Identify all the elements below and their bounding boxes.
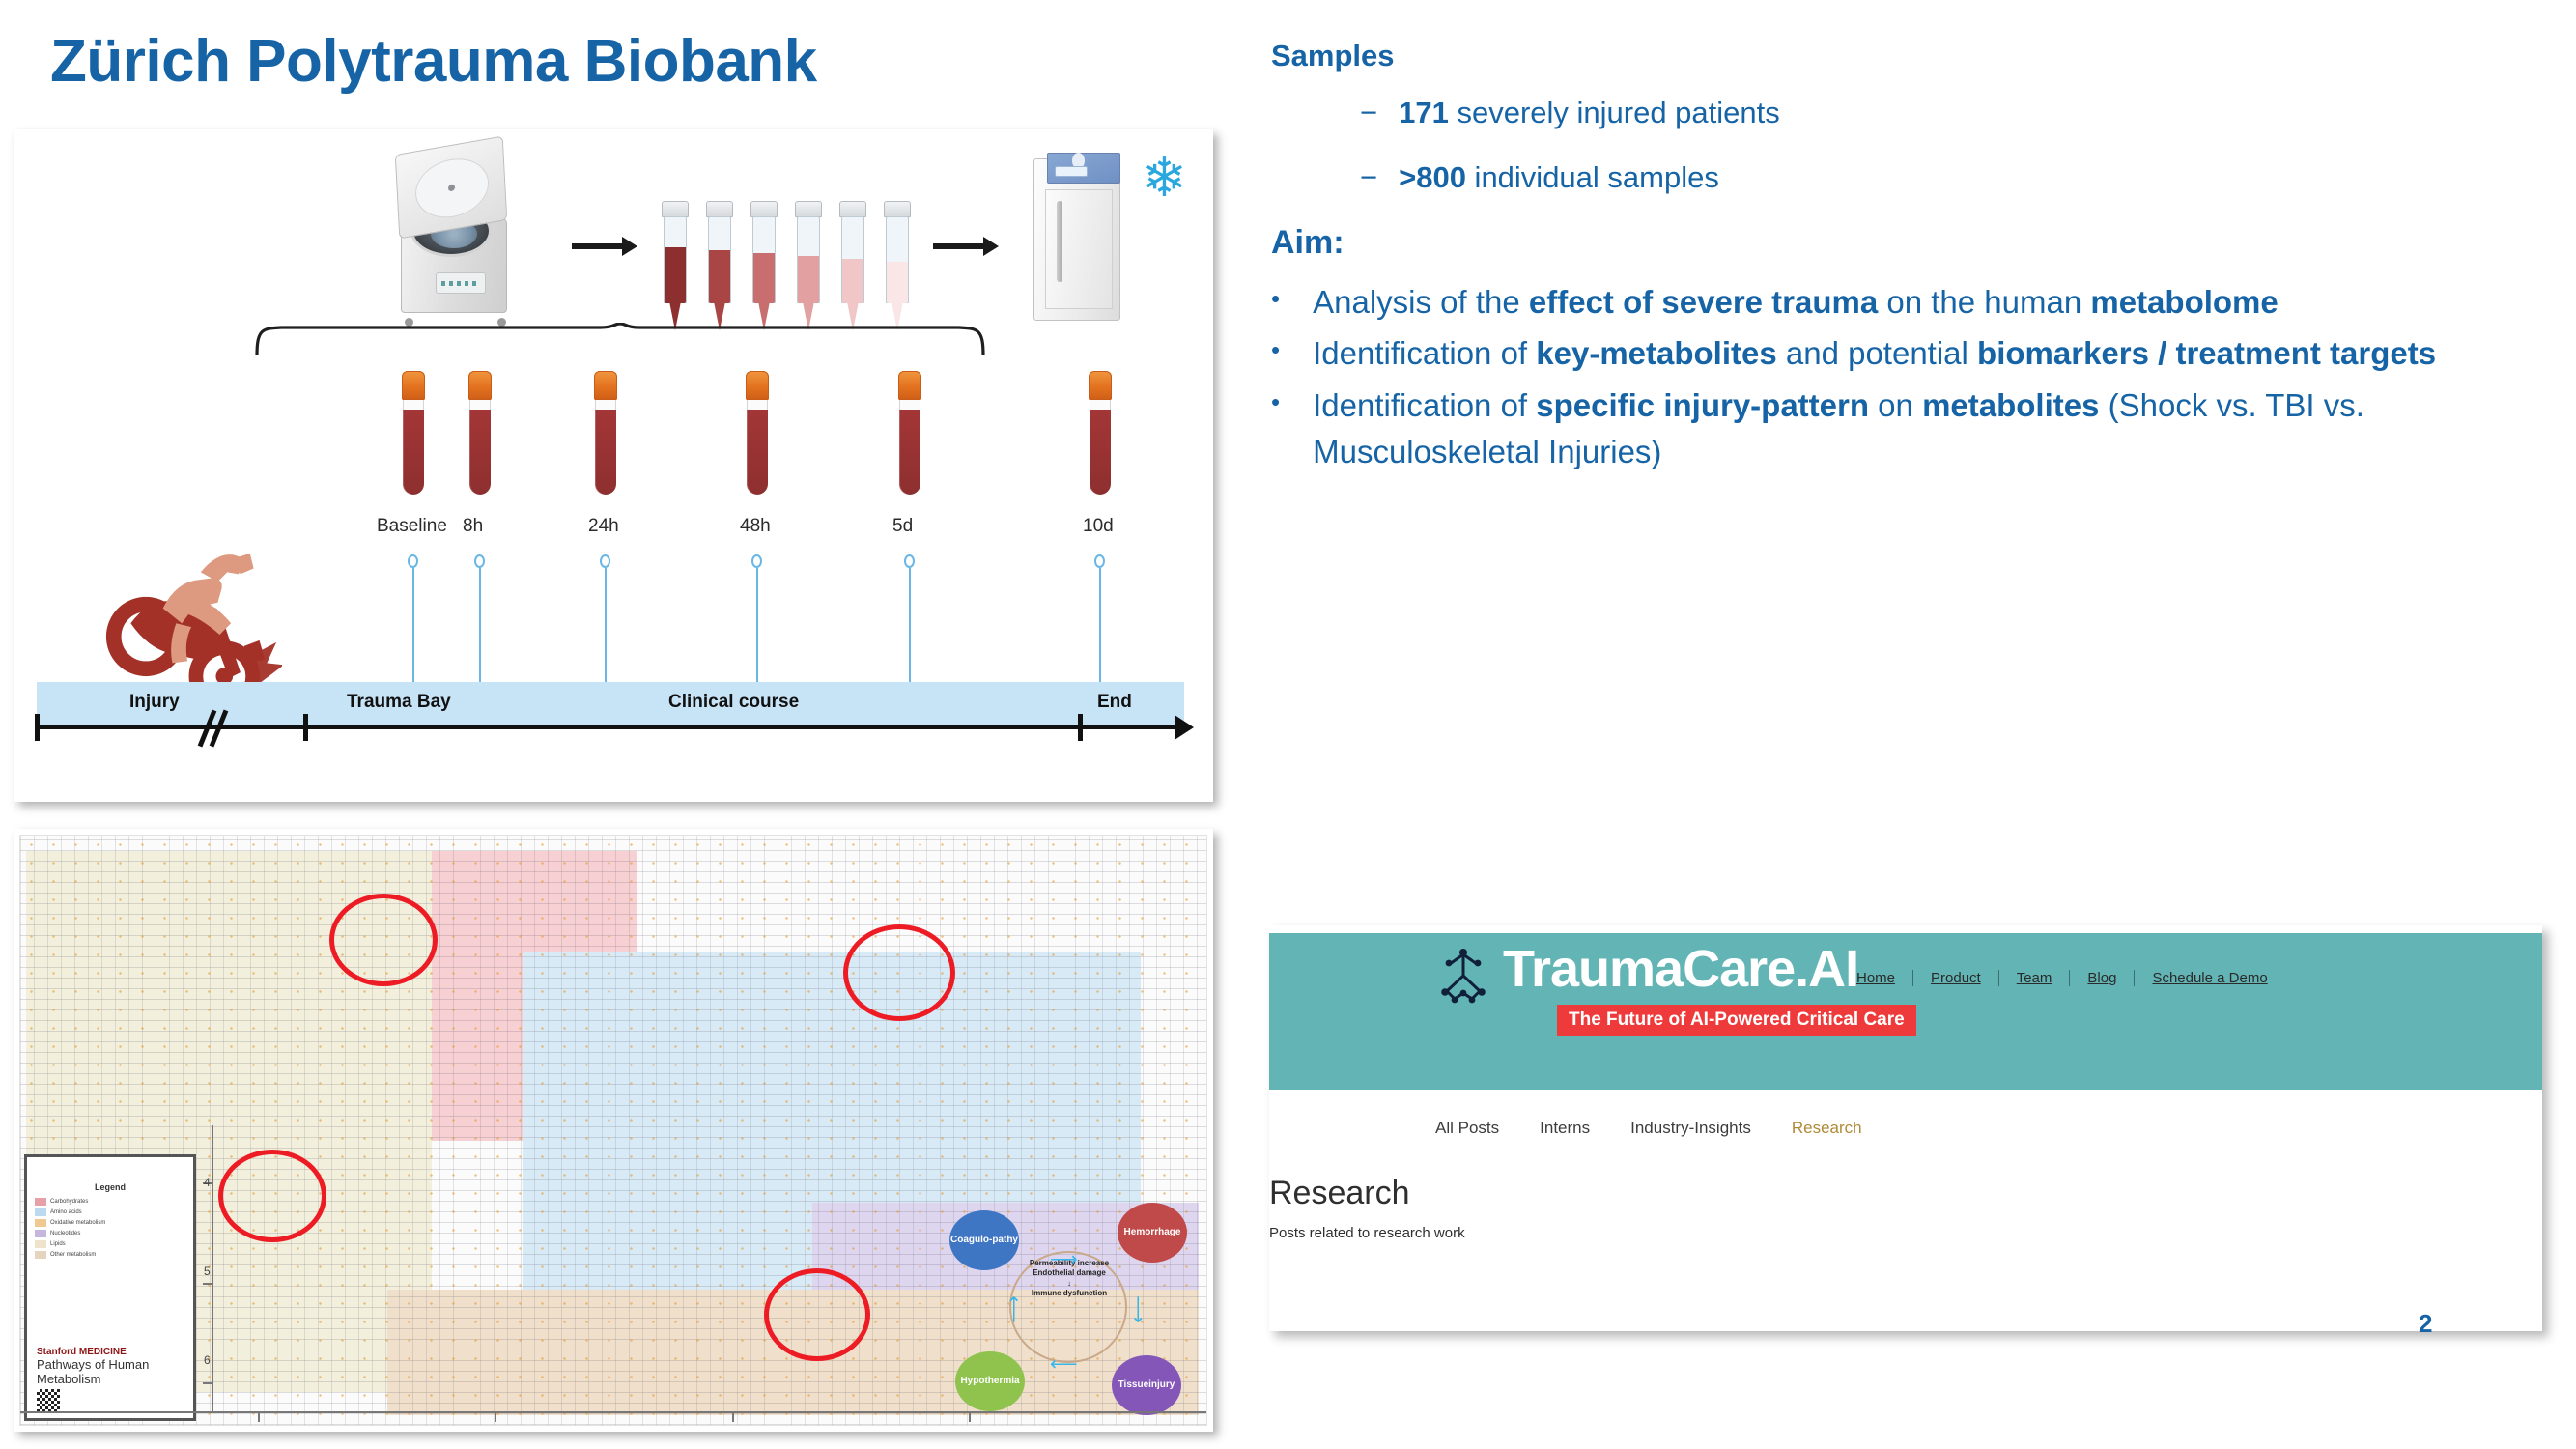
eppendorf-tube <box>794 201 823 331</box>
nav-item-blog[interactable]: Blog <box>2069 970 2134 986</box>
legend-label: Other metabolism <box>50 1252 96 1258</box>
samples-item-text: >800 individual samples <box>1399 159 1719 197</box>
qr-code-icon <box>37 1389 60 1412</box>
cycle-node-hypothermia: Hypothermia <box>955 1351 1025 1411</box>
centrifuge-icon <box>376 147 530 321</box>
legend-swatch <box>35 1230 46 1237</box>
legend-label: Amino acids <box>50 1209 82 1215</box>
timepoint-label: 8h <box>463 516 483 537</box>
timepoint-label: Baseline <box>377 516 447 537</box>
legend-label: Lipids <box>50 1241 66 1247</box>
timepoint-stem <box>479 568 481 690</box>
samples-item-text: 171 severely injured patients <box>1399 95 1780 132</box>
dash-bullet-icon: − <box>1360 159 1377 197</box>
aim-bullet-list: •Analysis of the effect of severe trauma… <box>1271 279 2527 475</box>
aim-bullet: •Identification of specific injury-patte… <box>1271 383 2527 475</box>
timepoint-label: 48h <box>740 516 771 537</box>
blood-tube <box>468 371 492 495</box>
legend-label: Oxidative metabolism <box>50 1220 105 1226</box>
blood-tube <box>746 371 769 495</box>
highlight-circle <box>843 924 955 1021</box>
timeline-phase-label: Trauma Bay <box>347 692 451 713</box>
timepoint-marker <box>474 554 485 568</box>
axis-number: 6 <box>204 1353 211 1367</box>
blood-tube <box>898 371 921 495</box>
trauma-triad-cycle: Permeability increaseEndothelial damage↓… <box>949 1197 1187 1415</box>
stanford-source: Stanford MEDICINE <box>37 1347 193 1357</box>
blood-tube <box>594 371 617 495</box>
legend-swatch <box>35 1251 46 1259</box>
arrow-right-icon-2 <box>933 243 987 249</box>
timepoint-marker <box>751 554 762 568</box>
blood-tube <box>402 371 425 495</box>
timepoint-label: 24h <box>588 516 619 537</box>
axis-tick-traumabay <box>303 714 308 741</box>
nav-item-home[interactable]: Home <box>1839 970 1912 986</box>
timepoint-stem <box>1099 568 1101 690</box>
page-title: Zürich Polytrauma Biobank <box>50 27 817 96</box>
aim-bullet: •Identification of key-metabolites and p… <box>1271 330 2527 377</box>
samples-list: −171 severely injured patients−>800 indi… <box>1271 95 2527 197</box>
cycle-node-tissue-injury: Tissueinjury <box>1112 1355 1181 1415</box>
eppendorf-tube <box>750 201 778 331</box>
arrow-right-icon-1 <box>572 243 626 249</box>
aim-bullet-text: Identification of key-metabolites and po… <box>1313 330 2436 377</box>
timeline-phase-label: Injury <box>129 692 180 713</box>
legend-row: Nucleotides <box>35 1230 185 1237</box>
timeline-phase-label: Clinical course <box>668 692 799 713</box>
cycle-node-coagulopathy: Coagulo-pathy <box>949 1210 1019 1270</box>
nav-item-product[interactable]: Product <box>1912 970 1998 986</box>
brace-decoration <box>253 323 987 355</box>
eppendorf-tube <box>661 201 690 331</box>
eppendorf-tube <box>838 201 867 331</box>
legend-swatch <box>35 1208 46 1216</box>
samples-heading: Samples <box>1271 39 2527 73</box>
axis-number: 5 <box>204 1264 211 1278</box>
freezer-icon: ❄ <box>1026 145 1130 330</box>
website-nav[interactable]: HomeProductTeamBlogSchedule a Demo <box>1839 970 2285 986</box>
pathway-legend: Legend CarbohydratesAmino acidsOxidative… <box>24 1154 196 1421</box>
blog-tab-industry-insights[interactable]: Industry-Insights <box>1630 1119 1751 1138</box>
legend-swatch <box>35 1240 46 1248</box>
legend-row: Carbohydrates <box>35 1198 185 1206</box>
axis-number: 4 <box>204 1176 211 1189</box>
axis-tick-start <box>35 714 40 741</box>
legend-label: Carbohydrates <box>50 1199 88 1205</box>
blog-category-tabs[interactable]: All PostsInternsIndustry-InsightsResearc… <box>1435 1119 1862 1138</box>
highlight-circle <box>764 1268 870 1361</box>
timepoint-stem <box>909 568 911 690</box>
aim-heading: Aim: <box>1271 224 2527 262</box>
snowflake-icon: ❄ <box>1142 151 1187 205</box>
nav-item-schedule-a-demo[interactable]: Schedule a Demo <box>2134 970 2284 986</box>
timepoint-label: 10d <box>1083 516 1114 537</box>
timepoint-marker <box>904 554 915 568</box>
eppendorf-tube <box>705 201 734 331</box>
blog-page-heading: Research <box>1269 1175 1410 1212</box>
timepoint-stem <box>412 568 414 690</box>
axis-break-icon <box>203 709 228 746</box>
timepoint-marker <box>600 554 610 568</box>
bullet-dot-icon: • <box>1271 383 1280 475</box>
pathway-title: Pathways of Human Metabolism <box>37 1357 193 1386</box>
legend-title: Legend <box>27 1182 193 1192</box>
page-number: 2 <box>2419 1309 2432 1339</box>
legend-row: Lipids <box>35 1240 185 1248</box>
samples-list-item: −>800 individual samples <box>1360 159 2527 197</box>
brand-name: TraumaCare.AI <box>1503 943 1916 995</box>
timeline-phase-label: End <box>1097 692 1132 713</box>
bullet-dot-icon: • <box>1271 330 1280 377</box>
legend-label: Nucleotides <box>50 1231 80 1236</box>
cycle-node-hemorrhage: Hemorrhage <box>1118 1203 1187 1263</box>
axis-tick-end <box>1078 714 1083 741</box>
aim-bullet-text: Analysis of the effect of severe trauma … <box>1313 279 2279 326</box>
legend-row: Oxidative metabolism <box>35 1219 185 1227</box>
blood-tube <box>1089 371 1112 495</box>
content-column: Samples −171 severely injured patients−>… <box>1271 39 2527 481</box>
blog-page-subtitle: Posts related to research work <box>1269 1225 1465 1241</box>
eppendorf-tube-row <box>661 201 912 331</box>
blog-tab-research[interactable]: Research <box>1792 1119 1862 1138</box>
legend-swatch <box>35 1198 46 1206</box>
slide: Zürich Polytrauma Biobank <box>0 0 2576 1449</box>
brand-tagline: The Future of AI-Powered Critical Care <box>1557 1005 1916 1036</box>
timepoint-stem <box>605 568 607 690</box>
metabolic-pathway-map-image: Legend CarbohydratesAmino acidsOxidative… <box>14 829 1213 1432</box>
network-tree-logo-icon <box>1433 943 1493 1007</box>
highlight-circle <box>218 1150 326 1242</box>
traumacare-website-screenshot: TraumaCare.AI The Future of AI-Powered C… <box>1269 925 2542 1331</box>
aim-bullet: •Analysis of the effect of severe trauma… <box>1271 279 2527 326</box>
aim-bullet-text: Identification of specific injury-patter… <box>1313 383 2452 475</box>
nav-item-team[interactable]: Team <box>1998 970 2070 986</box>
blog-tab-interns[interactable]: Interns <box>1540 1119 1590 1138</box>
legend-row: Other metabolism <box>35 1251 185 1259</box>
traumacare-logo: TraumaCare.AI The Future of AI-Powered C… <box>1433 943 1916 1036</box>
dash-bullet-icon: − <box>1360 95 1377 132</box>
timepoint-label: 5d <box>892 516 913 537</box>
highlight-circle <box>329 894 438 986</box>
bullet-dot-icon: • <box>1271 279 1280 326</box>
timepoint-marker <box>1094 554 1105 568</box>
blog-tab-all-posts[interactable]: All Posts <box>1435 1119 1499 1138</box>
stanford-credit: Stanford MEDICINE Pathways of Human Meta… <box>37 1347 193 1412</box>
samples-list-item: −171 severely injured patients <box>1360 95 2527 132</box>
workflow-timeline-image: ❄ Baseline8h24h48h5d10d <box>14 129 1213 802</box>
legend-row: Amino acids <box>35 1208 185 1216</box>
eppendorf-tube <box>883 201 912 331</box>
timepoint-stem <box>756 568 758 690</box>
timepoint-marker <box>408 554 418 568</box>
pathway-bottom-axis <box>20 1411 1206 1425</box>
legend-swatch <box>35 1219 46 1227</box>
